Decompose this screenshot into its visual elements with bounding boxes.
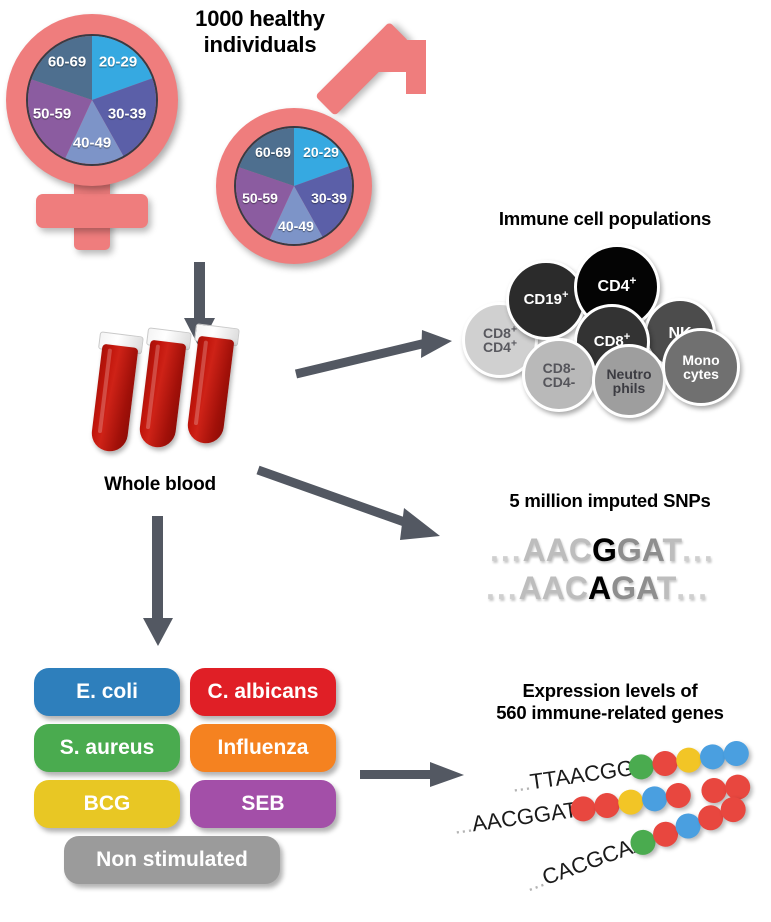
stim-box-c-albicans[interactable]: C. albicans <box>190 668 336 716</box>
snp-suffix-dots: ... <box>676 570 709 606</box>
blood-tube-3 <box>186 324 236 446</box>
figure-canvas: 1000 healthy individuals 20-29 30-39 40-… <box>0 0 771 922</box>
tube-blood <box>90 344 139 454</box>
stim-box-bcg[interactable]: BCG <box>34 780 180 828</box>
snp-sequence-row-2: ...AACAGAT... <box>486 570 709 607</box>
blood-tube-2 <box>138 328 188 450</box>
tube-blood <box>138 340 187 450</box>
stim-box-seb[interactable]: SEB <box>190 780 336 828</box>
cell-label-neutrophils: Neutrophils <box>606 367 651 396</box>
male-pie-label-30-39: 30-39 <box>311 190 347 206</box>
cell-bubble-neutrophils: Neutrophils <box>592 344 666 418</box>
tube-blood <box>186 336 235 446</box>
arrow-blood-to-stimulations <box>140 516 176 648</box>
dna-bead <box>675 746 703 774</box>
pie-label-40-49: 40-49 <box>73 135 111 152</box>
dna-strands: ...TTAACGG ...AACGGAT ...CACGCAA <box>440 730 771 910</box>
immune-cell-cluster: CD8+CD4+ CD19+ CD4+ NK CD8+ CD8-CD4- Neu… <box>462 242 762 422</box>
dna-strand-2-text: ...AACGGAT <box>452 797 579 840</box>
cell-label-cd8cd4-neg: CD8-CD4- <box>543 361 576 390</box>
snp-after-1: GA <box>617 532 663 568</box>
cell-label-cd8cd4-pos: CD8+CD4+ <box>483 326 517 355</box>
dna-bead <box>698 743 726 771</box>
dna-bead <box>664 781 692 809</box>
snp-before-1: AAC <box>523 532 592 568</box>
male-pie-label-40-49: 40-49 <box>278 218 314 234</box>
cell-label-cd19: CD19+ <box>524 292 569 307</box>
male-pie-label-60-69: 60-69 <box>255 144 291 160</box>
cell-label-cd4: CD4+ <box>598 279 637 295</box>
dna-strand-2-sequence: AACGGAT <box>470 797 578 837</box>
expression-title-line1: Expression levels of <box>450 680 770 702</box>
dna-bead <box>640 785 668 813</box>
cell-bubble-cd19: CD19+ <box>506 260 586 340</box>
blood-tube-1 <box>90 332 140 454</box>
dna-bead <box>651 749 679 777</box>
pie-label-30-39: 30-39 <box>108 106 146 123</box>
pie-label-50-59: 50-59 <box>33 106 71 123</box>
cell-label-monocytes: Monocytes <box>682 353 719 382</box>
stim-box-non-stimulated[interactable]: Non stimulated <box>64 836 280 884</box>
pie-label-20-29: 20-29 <box>99 54 137 71</box>
snp-sequence-row-1: ...AACGGAT... <box>490 532 715 569</box>
male-pie-label-50-59: 50-59 <box>242 190 278 206</box>
cell-bubble-cd8cd4-neg: CD8-CD4- <box>522 338 596 412</box>
snp-suffix-dots: ... <box>682 532 715 568</box>
snp-prefix-dots: ... <box>490 532 523 568</box>
stimulation-panel: E. coli C. albicans S. aureus Influenza … <box>34 668 334 888</box>
cohort-headline: 1000 healthy individuals <box>155 6 365 58</box>
arrow-blood-to-immune <box>296 330 456 382</box>
snp-variant-1: G <box>592 532 617 568</box>
whole-blood-label: Whole blood <box>60 474 260 496</box>
snp-variant-2: A <box>588 570 611 606</box>
cell-bubble-monocytes: Monocytes <box>662 328 740 406</box>
snp-prefix-dots: ... <box>486 570 519 606</box>
immune-cells-title: Immune cell populations <box>440 208 770 230</box>
cohort-headline-line2: individuals <box>155 32 365 58</box>
cohort-headline-line1: 1000 healthy <box>155 6 365 32</box>
snp-after-tail-2: T <box>657 570 677 606</box>
stim-box-s-aureus[interactable]: S. aureus <box>34 724 180 772</box>
male-pie-label-20-29: 20-29 <box>303 144 339 160</box>
snp-after-2: GA <box>611 570 657 606</box>
snp-before-2: AAC <box>519 570 588 606</box>
dna-bead <box>722 739 750 767</box>
stim-box-influenza[interactable]: Influenza <box>190 724 336 772</box>
female-symbol: 20-29 30-39 40-49 50-59 60-69 <box>6 14 186 252</box>
pie-label-60-69: 60-69 <box>48 54 86 71</box>
stim-box-e-coli[interactable]: E. coli <box>34 668 180 716</box>
dna-bead <box>617 788 645 816</box>
male-symbol: 20-29 30-39 40-49 50-59 60-69 <box>210 70 420 260</box>
snp-after-tail-1: T <box>663 532 683 568</box>
blood-tubes <box>96 330 276 470</box>
female-symbol-crossbar <box>36 194 148 228</box>
expression-title: Expression levels of 560 immune-related … <box>450 680 770 724</box>
dna-bead <box>593 791 621 819</box>
arrow-blood-to-snps <box>258 462 448 552</box>
expression-title-line2: 560 immune-related genes <box>450 702 770 724</box>
male-symbol-arrowhead <box>348 40 428 130</box>
snps-title: 5 million imputed SNPs <box>450 490 770 512</box>
